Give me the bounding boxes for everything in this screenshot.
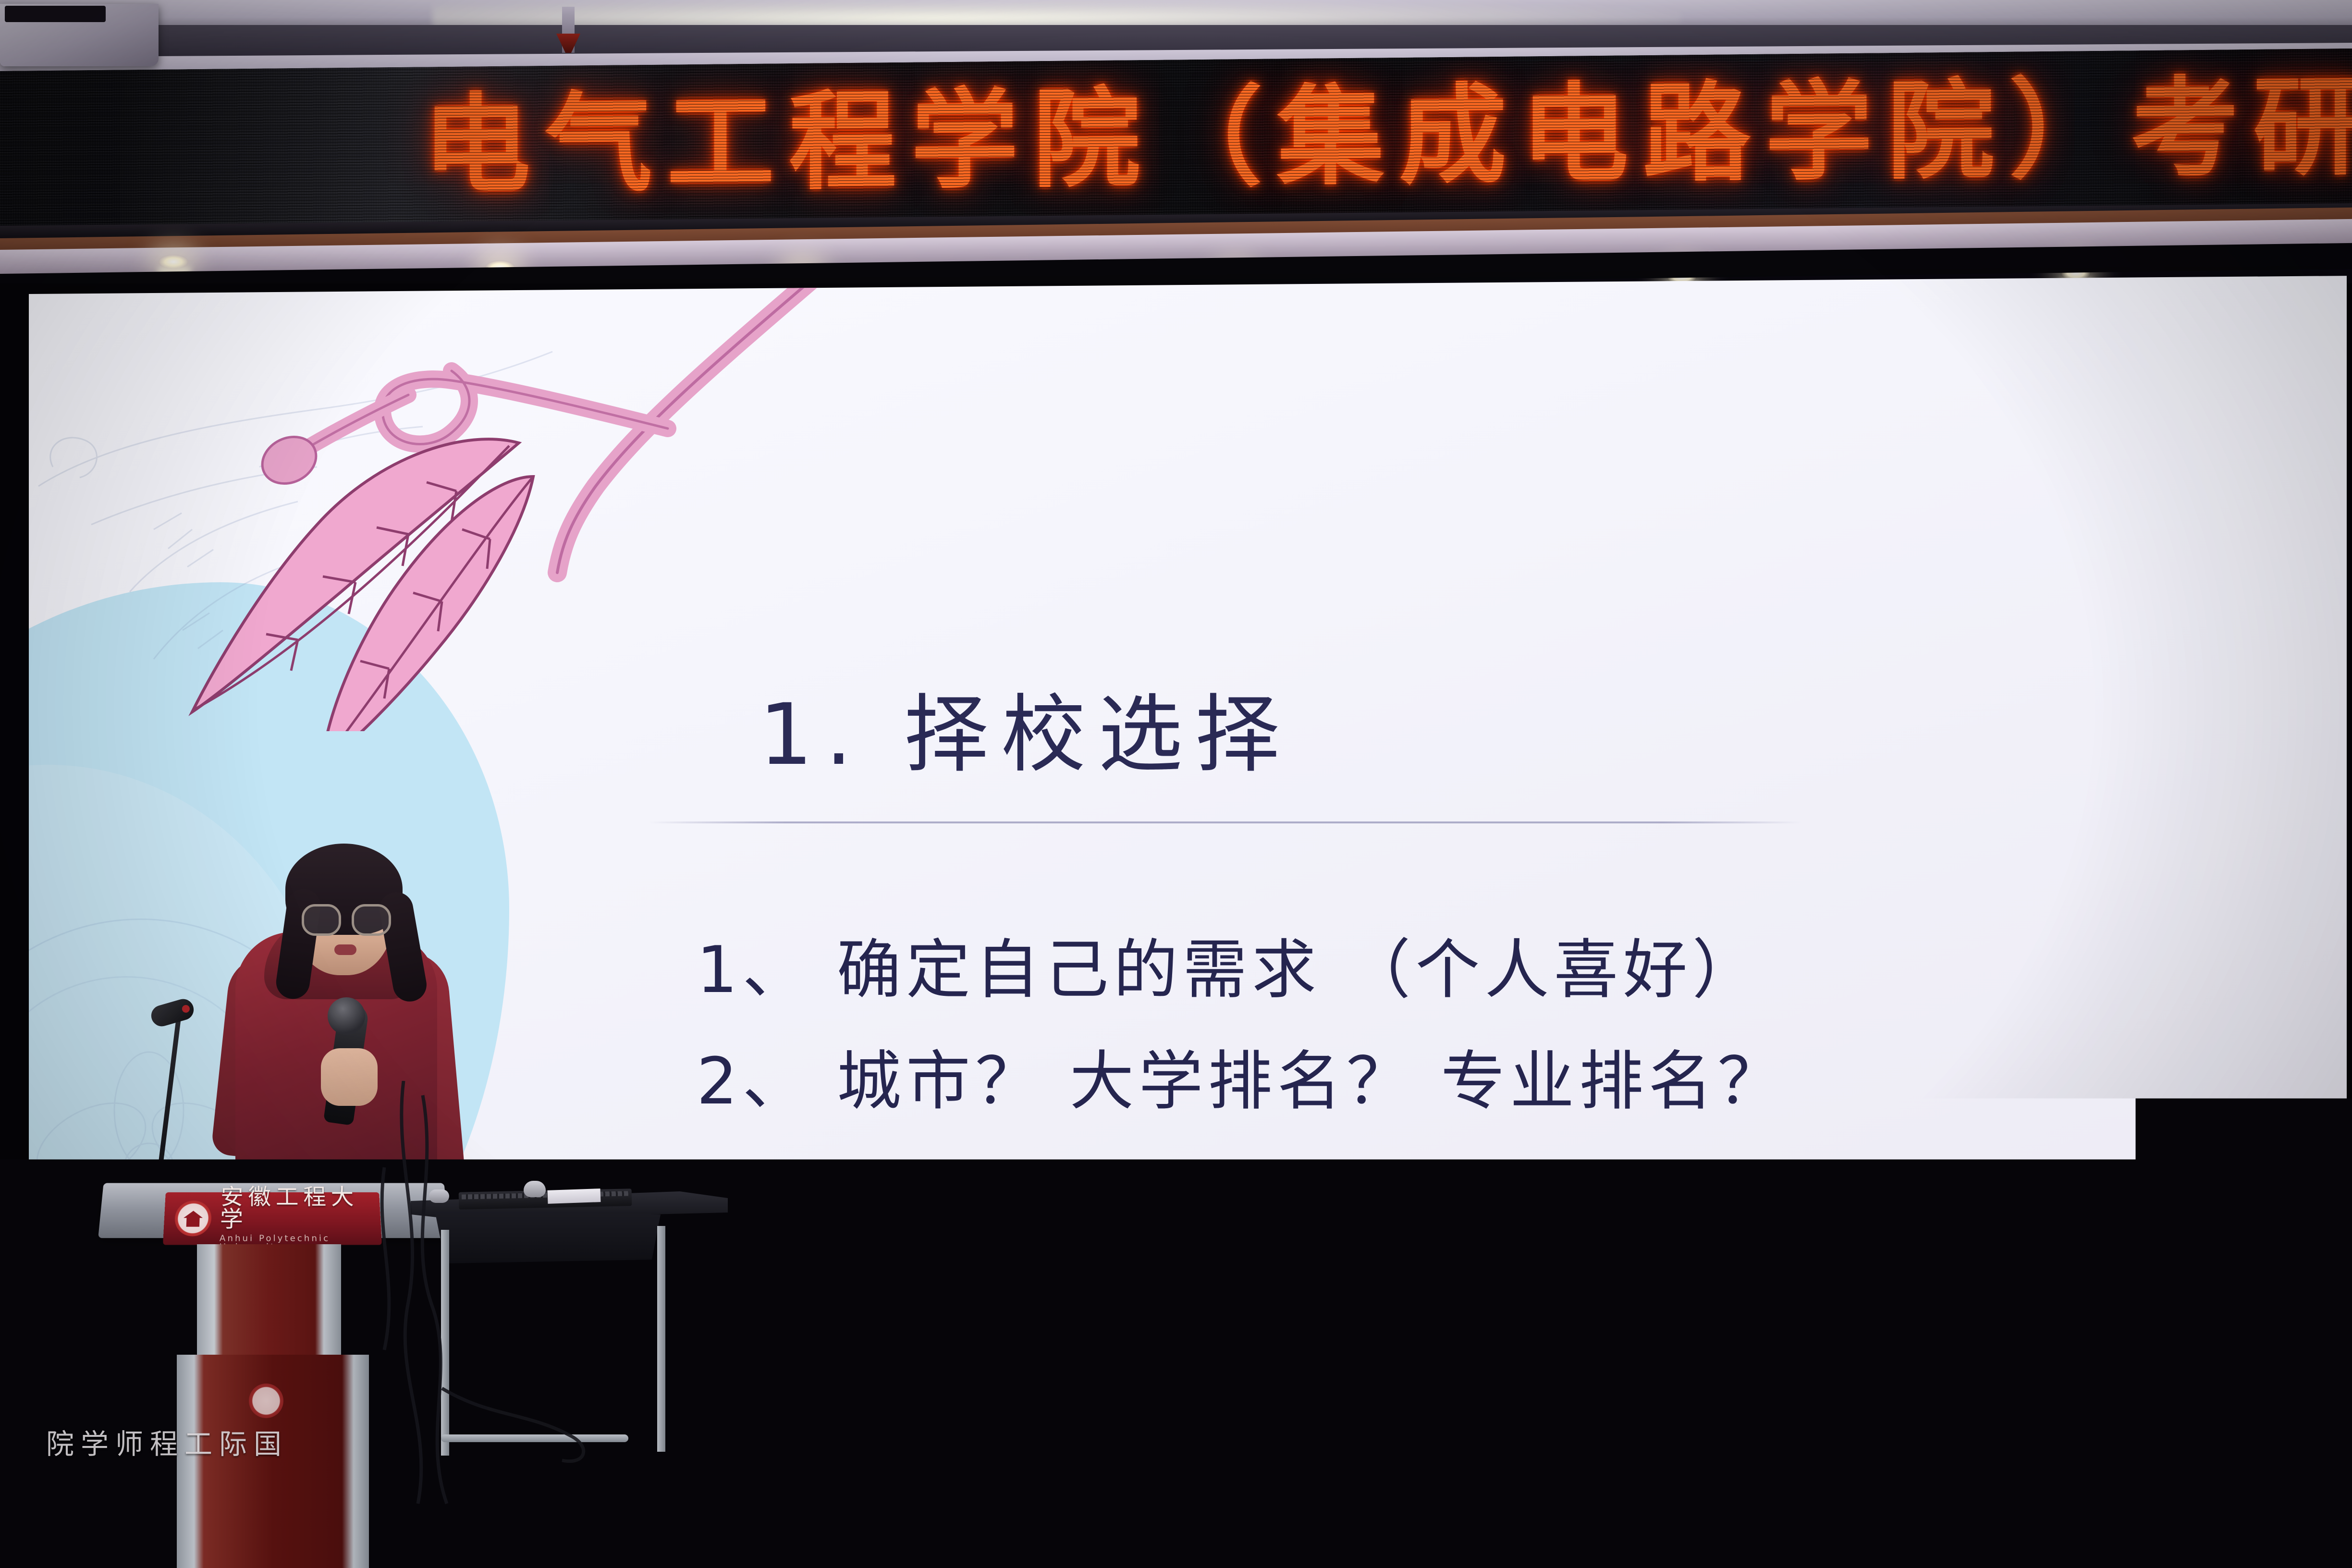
university-logo-icon [174,1200,212,1236]
slide-bullet-1: 1、 确定自己的需求 （个人喜好） [697,938,1761,1002]
glasses-lens-left [302,904,341,936]
lectern-nameplate: 安徽工程大学 Anhui Polytechnic University [163,1192,382,1245]
audience-head [0,1441,159,1568]
banner-hanger [562,7,575,53]
lecture-hall-photo: 电气工程学院（集成电路学院）考研 [0,0,2352,1568]
audience-seat [2080,1469,2204,1568]
projector-lens-icon [5,6,106,22]
audience-head [1278,1493,1398,1568]
audience-seat [1931,1408,2051,1552]
audience-head [1585,1508,1705,1568]
ceiling-projector [0,4,159,66]
led-banner-text: 电气工程学院（集成电路学院）考研 [423,54,2352,218]
glasses-icon [302,904,386,931]
audience-seat [1777,1471,1901,1568]
led-banner: 电气工程学院（集成电路学院）考研 [0,49,2352,230]
university-name: 安徽工程大学 [220,1186,381,1231]
glasses-lens-right [352,904,391,936]
slide-bullet-2: 2、 城市？ 大学排名？ 专业排名？ [697,1049,1787,1114]
presenter-mouth [334,944,356,955]
slide-title: 1. 择校选择 [759,693,1292,777]
slide-bullet-3: 3、 专业课 （数目、 难度） [697,1161,1579,1225]
slide-title-rule [649,821,1801,823]
slide-pink-leaf-decoration [72,284,821,731]
audience-seat [2210,1406,2330,1550]
audience-head [788,1354,894,1568]
